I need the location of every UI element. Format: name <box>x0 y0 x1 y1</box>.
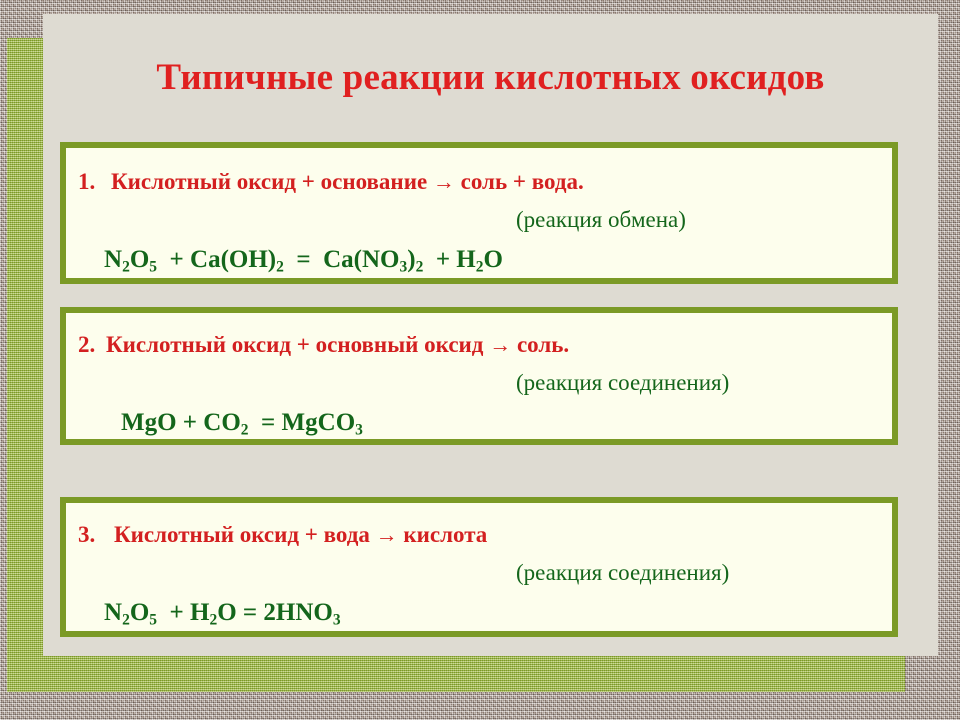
reaction-note-2: (реакция соединения) <box>516 371 729 394</box>
reaction-heading-3: Кислотный оксид + вода → кислота <box>114 523 487 546</box>
reaction-reagents-1: Кислотный оксид + основание <box>111 169 427 194</box>
reaction-number-1: 1. <box>78 170 95 193</box>
arrow-icon: → <box>433 169 455 194</box>
arrow-icon: → <box>376 522 398 547</box>
page-title: Типичные реакции кислотных оксидов <box>43 56 938 99</box>
slide-frame: Типичные реакции кислотных оксидов 1. Ки… <box>0 0 960 720</box>
reaction-number-3: 3. <box>78 523 95 546</box>
reaction-products-1: соль + вода. <box>461 169 584 194</box>
reaction-products-2: соль. <box>517 332 569 357</box>
arrow-icon: → <box>489 332 511 357</box>
reaction-reagents-3: Кислотный оксид + вода <box>114 522 370 547</box>
accent-band-bottom <box>7 656 905 692</box>
slide-panel: Типичные реакции кислотных оксидов 1. Ки… <box>43 14 938 656</box>
reaction-equation-2: MgO + CO2 = MgCO3 <box>121 410 363 438</box>
reaction-reagents-2: Кислотный оксид + основный оксид <box>106 332 483 357</box>
reaction-heading-1: Кислотный оксид + основание → соль + вод… <box>111 170 584 193</box>
accent-band-left <box>7 38 43 692</box>
reaction-number-2: 2. <box>78 333 95 356</box>
reaction-note-1: (реакция обмена) <box>516 208 686 231</box>
reaction-equation-3: N2O5 + H2O = 2HNO3 <box>104 600 341 628</box>
reaction-heading-2: Кислотный оксид + основный оксид → соль. <box>106 333 569 356</box>
reaction-products-3: кислота <box>403 522 487 547</box>
reaction-box-3: 3. Кислотный оксид + вода → кислота (реа… <box>60 497 898 637</box>
reaction-box-1: 1. Кислотный оксид + основание → соль + … <box>60 142 898 284</box>
reaction-equation-1: N2O5 + Ca(OH)2 = Ca(NO3)2 + H2O <box>104 247 503 275</box>
reaction-note-3: (реакция соединения) <box>516 561 729 584</box>
reaction-box-2: 2. Кислотный оксид + основный оксид → со… <box>60 307 898 445</box>
